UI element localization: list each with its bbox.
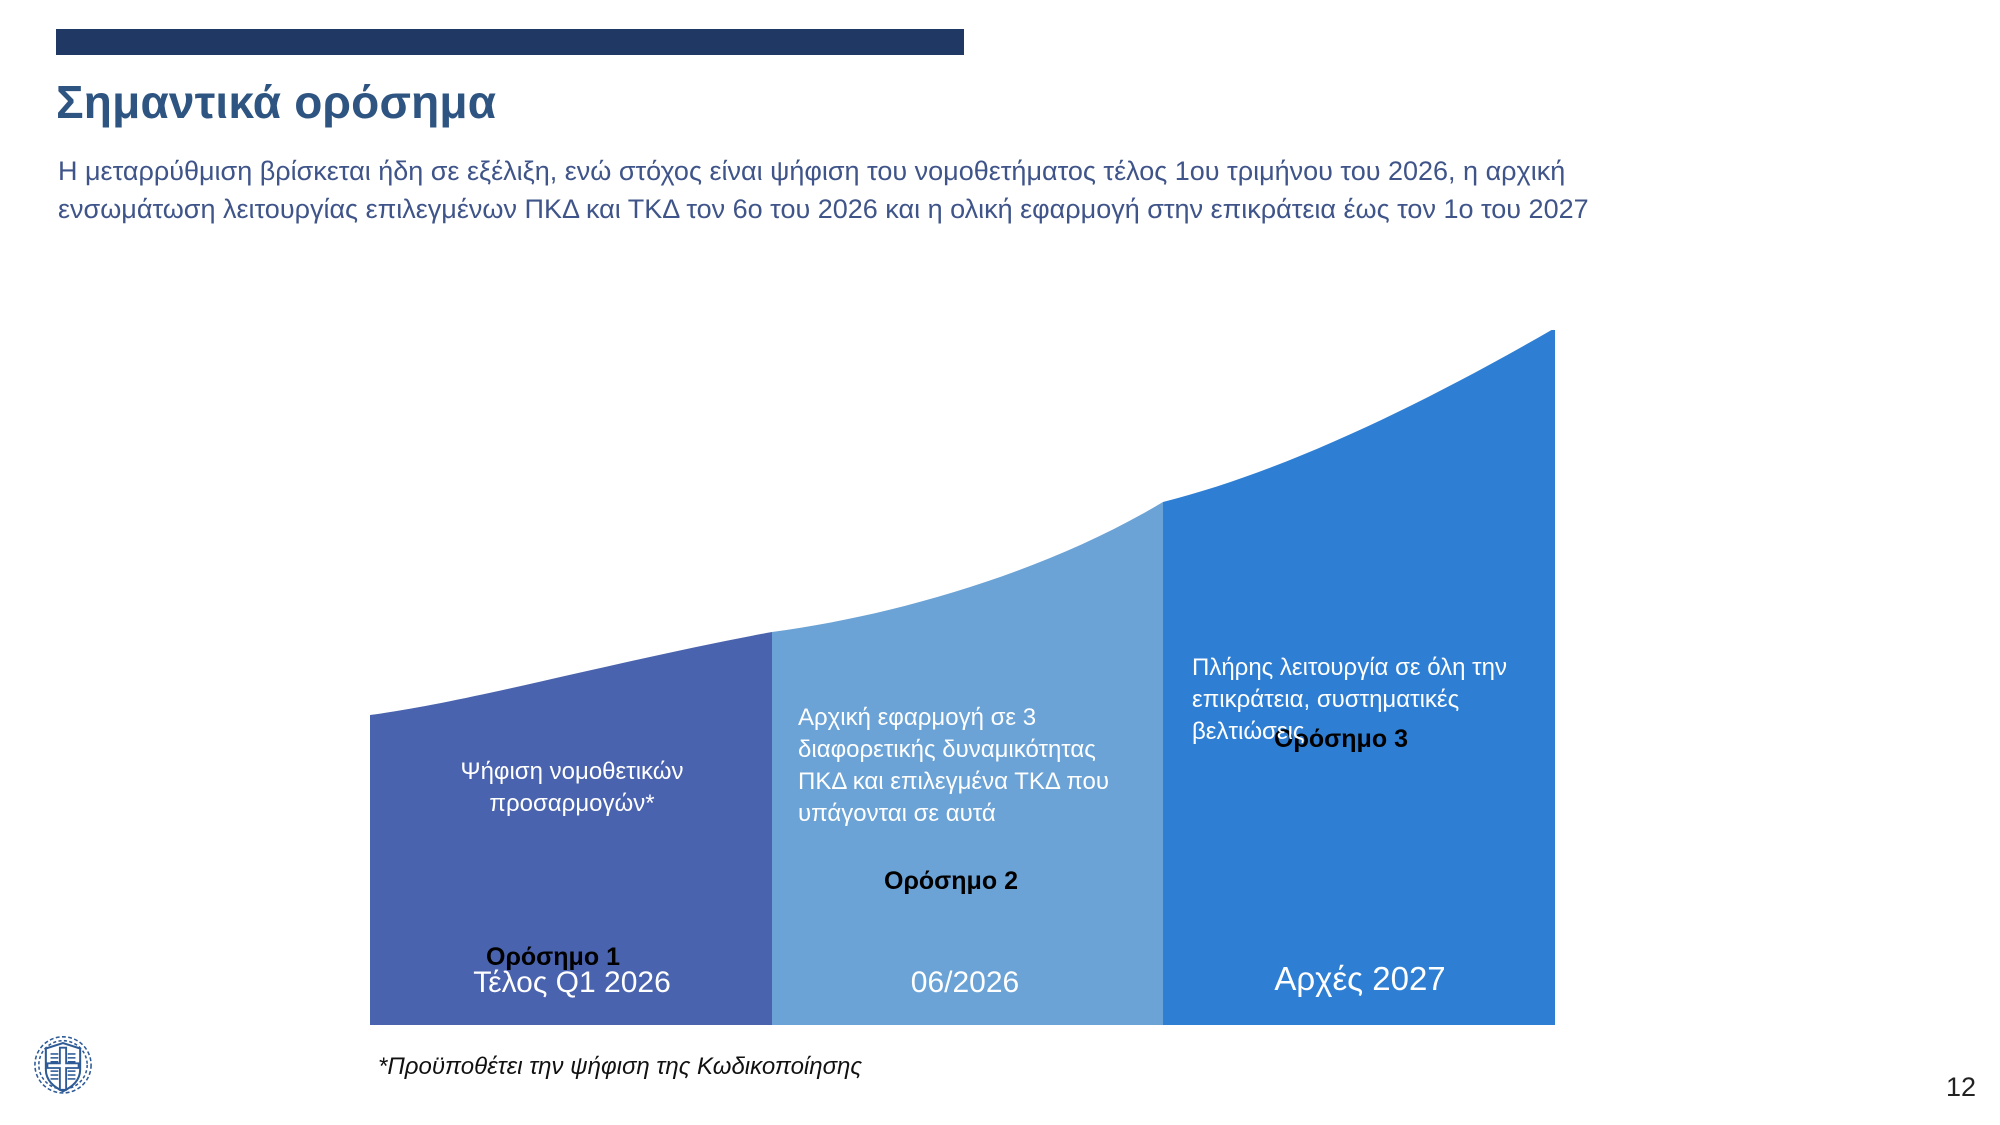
milestone-3-date: Αρχές 2027 <box>1180 960 1540 998</box>
subtitle-line-2: ενσωμάτωση λειτουργίας επιλεγμένων ΠΚΔ κ… <box>58 190 1958 228</box>
page-number: 12 <box>1946 1072 1976 1103</box>
milestones-area-chart: Ορόσημο 1 Ορόσημο 2 Ορόσημο 3 <box>0 330 2000 1050</box>
milestone-2-date: 06/2026 <box>790 966 1140 1000</box>
milestone-3-body: Πλήρης λειτουργία σε όλη την επικράτεια,… <box>1192 652 1532 748</box>
milestone-2-body: Αρχική εφαρμογή σε 3 διαφορετικής δυναμι… <box>798 702 1128 830</box>
header-accent-bar <box>56 29 964 55</box>
milestone-2-label: Ορόσημο 2 <box>884 867 1018 896</box>
page-title: Σημαντικά ορόσημα <box>56 75 496 129</box>
milestone-1-date: Τέλος Q1 2026 <box>392 966 752 1000</box>
subtitle: Η μεταρρύθμιση βρίσκεται ήδη σε εξέλιξη,… <box>58 152 1958 229</box>
footnote: *Προϋποθέτει την ψήφιση της Κωδικοποίηση… <box>378 1053 862 1081</box>
chart-shapes <box>0 330 2000 1050</box>
milestone-1-body: Ψήφιση νομοθετικών προσαρμογών* <box>392 756 752 820</box>
slide-canvas: Σημαντικά ορόσημα Η μεταρρύθμιση βρίσκετ… <box>0 0 2000 1125</box>
subtitle-line-1: Η μεταρρύθμιση βρίσκεται ήδη σε εξέλιξη,… <box>58 152 1958 190</box>
greek-coat-of-arms-icon <box>24 1029 102 1107</box>
